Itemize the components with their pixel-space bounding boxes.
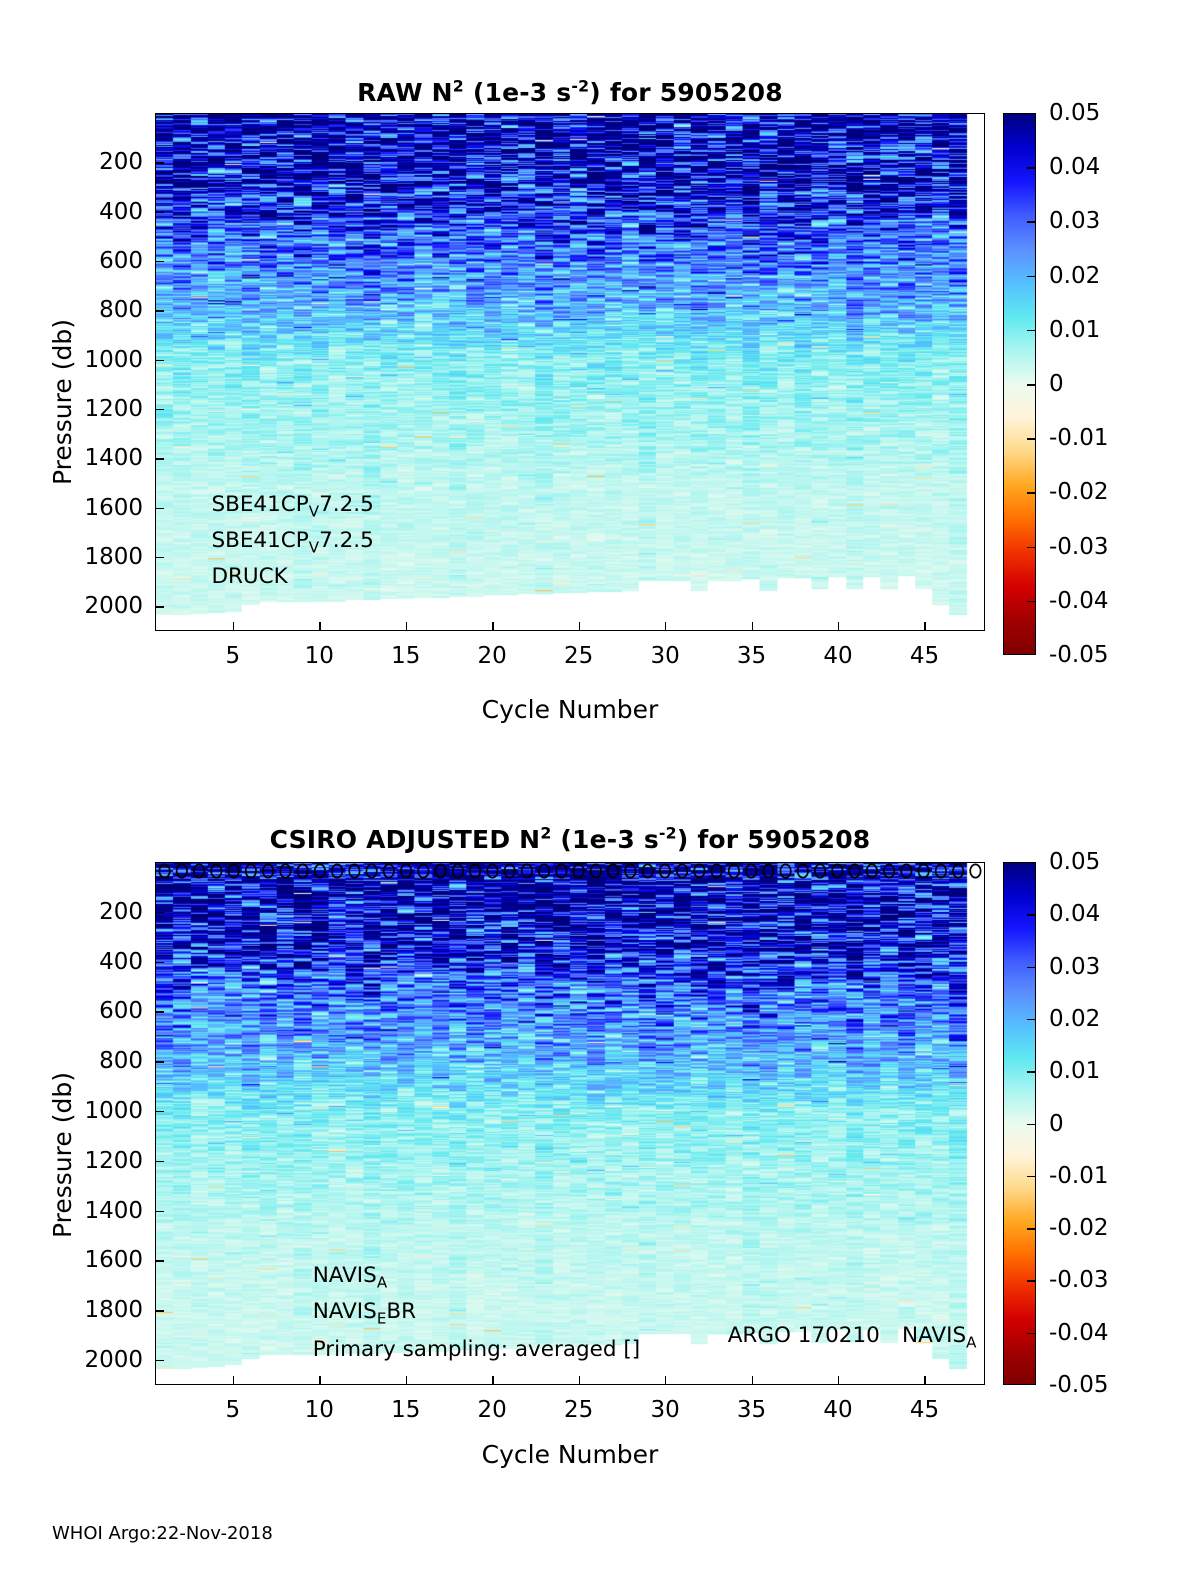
sampling-scheme: Primary sampling: averaged [] <box>313 1339 640 1361</box>
colorbar-tick-label: 0.04 <box>1049 154 1100 180</box>
x-tick-label: 35 <box>737 643 766 669</box>
y-tickmark <box>155 1360 164 1361</box>
y-tick-label: 800 <box>55 1048 143 1074</box>
panel-raw-plot-area[interactable] <box>155 113 985 631</box>
colorbar-tick-label: -0.01 <box>1049 1163 1109 1189</box>
y-tickmark <box>155 360 164 361</box>
colorbar-tickmark <box>1027 492 1036 494</box>
colorbar-tickmark <box>1027 1333 1036 1335</box>
sensor-primary: SBE41CPV7.2.5 <box>211 494 373 516</box>
colorbar-tickmark <box>1027 1176 1036 1178</box>
y-tickmark <box>155 310 164 311</box>
colorbar-tick-label: 0.02 <box>1049 1006 1100 1032</box>
y-tickmark <box>155 508 164 509</box>
y-tickmark <box>155 212 164 213</box>
x-tick-label: 10 <box>305 643 334 669</box>
colorbar-tickmark <box>1027 384 1036 386</box>
y-tickmark <box>155 409 164 410</box>
x-tick-label: 10 <box>305 1397 334 1423</box>
colorbar-tickmark <box>1027 1228 1036 1230</box>
float-model-ebr-text: NAVIS <box>313 1299 377 1324</box>
panel-adjusted-heatmap <box>156 863 984 1384</box>
colorbar-tick-label: -0.03 <box>1049 534 1109 560</box>
argo-wmo-note-text: ARGO 170210 <box>728 1323 880 1348</box>
sensor-secondary-suffix: 7.2.5 <box>319 528 374 553</box>
colorbar-tick-label: 0.02 <box>1049 263 1100 289</box>
x-tickmark <box>319 622 320 631</box>
colorbar-tick-label: -0.04 <box>1049 1320 1109 1346</box>
colorbar-tickmark <box>1027 330 1036 332</box>
x-tick-label: 40 <box>823 643 852 669</box>
y-tick-label: 1600 <box>55 495 143 521</box>
colorbar-tick-label: 0.03 <box>1049 954 1100 980</box>
x-tickmark <box>406 1376 407 1385</box>
x-tickmark <box>579 1376 580 1385</box>
y-tick-label: 400 <box>55 949 143 975</box>
y-tickmark <box>155 962 164 963</box>
y-tick-label: 1800 <box>55 544 143 570</box>
y-tick-label: 600 <box>55 998 143 1024</box>
y-tickmark <box>155 162 164 163</box>
sampling-scheme-text: Primary sampling: averaged [] <box>313 1337 640 1362</box>
x-tickmark <box>492 1376 493 1385</box>
colorbar-tickmark <box>1027 547 1036 549</box>
colorbar-tick-label: -0.01 <box>1049 425 1109 451</box>
colorbar-tick-label: 0 <box>1049 1111 1064 1137</box>
y-tick-label: 2000 <box>55 593 143 619</box>
y-tickmark <box>155 912 164 913</box>
y-tickmark <box>155 606 164 607</box>
x-tickmark <box>233 622 234 631</box>
float-model-a-subscript: A <box>377 1273 387 1291</box>
colorbar-tick-label: -0.02 <box>1049 1215 1109 1241</box>
x-tickmark <box>924 1376 925 1385</box>
colorbar-tickmark <box>1027 601 1036 603</box>
y-tickmark <box>155 1310 164 1311</box>
panel-adjusted-x-axis-label: Cycle Number <box>155 1440 985 1469</box>
panel-raw-y-axis-label: Pressure (db) <box>48 319 77 485</box>
colorbar-tickmark <box>1027 967 1036 969</box>
colorbar-tickmark <box>1027 1280 1036 1282</box>
x-tick-label: 35 <box>737 1397 766 1423</box>
y-tickmark <box>155 557 164 558</box>
colorbar-tick-label: 0.01 <box>1049 317 1100 343</box>
x-tick-label: 40 <box>823 1397 852 1423</box>
panel-adjusted-title-pre: CSIRO ADJUSTED N <box>270 825 541 854</box>
float-type-note: NAVISA <box>902 1325 976 1347</box>
float-model-a: NAVISA <box>313 1265 387 1287</box>
y-tick-label: 600 <box>55 248 143 274</box>
sensor-primary-suffix: 7.2.5 <box>319 492 374 517</box>
y-tickmark <box>155 1161 164 1162</box>
panel-adjusted-title-post: ) for 5905208 <box>677 825 871 854</box>
y-tick-label: 2000 <box>55 1347 143 1373</box>
float-type-note-text: NAVIS <box>902 1323 966 1348</box>
colorbar-tickmark <box>1027 221 1036 223</box>
x-tickmark <box>838 1376 839 1385</box>
float-type-note-subscript: A <box>966 1333 976 1351</box>
x-tick-label: 30 <box>650 1397 679 1423</box>
x-tickmark <box>233 1376 234 1385</box>
colorbar-tick-label: 0 <box>1049 371 1064 397</box>
x-tickmark <box>838 622 839 631</box>
colorbar-tickmark <box>1027 167 1036 169</box>
panel-adjusted-title-sup2: -2 <box>659 824 677 843</box>
x-tick-label: 45 <box>910 643 939 669</box>
x-tick-label: 15 <box>391 1397 420 1423</box>
y-tick-label: 400 <box>55 199 143 225</box>
panel-adjusted-y-axis-label: Pressure (db) <box>48 1072 77 1238</box>
colorbar-tickmark <box>1027 438 1036 440</box>
x-tickmark <box>406 622 407 631</box>
colorbar-tick-label: 0.03 <box>1049 208 1100 234</box>
x-tickmark <box>665 1376 666 1385</box>
colorbar-tick-label: 0.05 <box>1049 100 1100 126</box>
sensor-secondary-subscript: V <box>309 538 319 556</box>
colorbar-tick-label: 0.05 <box>1049 849 1100 875</box>
float-model-ebr: NAVISEBR <box>313 1301 416 1323</box>
sensor-primary-subscript: V <box>309 502 319 520</box>
x-tick-label: 25 <box>564 1397 593 1423</box>
x-tickmark <box>319 1376 320 1385</box>
x-tickmark <box>752 622 753 631</box>
float-model-a-text: NAVIS <box>313 1263 377 1288</box>
colorbar-tickmark <box>1027 276 1036 278</box>
y-tickmark <box>155 1111 164 1112</box>
x-tick-label: 5 <box>225 1397 240 1423</box>
pressure-sensor-text: DRUCK <box>211 564 287 589</box>
y-tick-label: 1600 <box>55 1247 143 1273</box>
sensor-secondary: SBE41CPV7.2.5 <box>211 530 373 552</box>
footer-provenance: WHOI Argo:22-Nov-2018 <box>52 1523 273 1544</box>
panel-raw-title-post: ) for 5905208 <box>589 78 783 107</box>
x-tickmark <box>752 1376 753 1385</box>
panel-raw-title-pre: RAW N <box>357 78 453 107</box>
x-tick-label: 25 <box>564 643 593 669</box>
colorbar-tick-label: -0.05 <box>1049 642 1109 668</box>
panel-adjusted-plot-area[interactable] <box>155 862 985 1385</box>
colorbar-tick-label: -0.02 <box>1049 479 1109 505</box>
x-tick-label: 45 <box>910 1397 939 1423</box>
panel-raw-x-axis-label: Cycle Number <box>155 695 985 724</box>
y-tick-label: 200 <box>55 149 143 175</box>
panel-adjusted-title-sup1: 2 <box>540 824 551 843</box>
y-tickmark <box>155 1011 164 1012</box>
pressure-sensor: DRUCK <box>211 566 287 588</box>
y-tickmark <box>155 458 164 459</box>
panel-adjusted-title-mid: (1e-3 s <box>551 825 658 854</box>
float-model-ebr-suffix: BR <box>386 1299 416 1324</box>
colorbar-tick-label: 0.04 <box>1049 901 1100 927</box>
colorbar-tickmark <box>1027 1124 1036 1126</box>
panel-raw-title-sup1: 2 <box>453 77 464 96</box>
y-tickmark <box>155 261 164 262</box>
y-tick-label: 1800 <box>55 1297 143 1323</box>
colorbar-tickmark <box>1027 914 1036 916</box>
x-tick-label: 5 <box>225 643 240 669</box>
panel-raw-title: RAW N2 (1e-3 s-2) for 5905208 <box>155 78 985 107</box>
x-tickmark <box>579 622 580 631</box>
colorbar-tick-label: 0.01 <box>1049 1058 1100 1084</box>
x-tick-label: 15 <box>391 643 420 669</box>
y-tickmark <box>155 1211 164 1212</box>
y-tick-label: 200 <box>55 899 143 925</box>
sensor-secondary-text: SBE41CP <box>211 528 308 553</box>
float-model-ebr-subscript: E <box>377 1310 387 1328</box>
y-tickmark <box>155 1061 164 1062</box>
colorbar-tickmark <box>1027 1019 1036 1021</box>
colorbar-tick-label: -0.04 <box>1049 588 1109 614</box>
x-tick-label: 20 <box>478 643 507 669</box>
x-tickmark <box>492 622 493 631</box>
x-tickmark <box>924 622 925 631</box>
sensor-primary-text: SBE41CP <box>211 492 308 517</box>
x-tickmark <box>665 622 666 631</box>
colorbar-tick-label: -0.05 <box>1049 1372 1109 1398</box>
panel-raw-title-mid: (1e-3 s <box>464 78 571 107</box>
argo-wmo-note: ARGO 170210 <box>728 1325 880 1347</box>
colorbar-tickmark <box>1027 1071 1036 1073</box>
colorbar-tick-label: -0.03 <box>1049 1267 1109 1293</box>
panel-raw-title-sup2: -2 <box>571 77 589 96</box>
panel-adjusted-title: CSIRO ADJUSTED N2 (1e-3 s-2) for 5905208 <box>155 825 985 854</box>
x-tick-label: 20 <box>478 1397 507 1423</box>
y-tickmark <box>155 1260 164 1261</box>
x-tick-label: 30 <box>650 643 679 669</box>
